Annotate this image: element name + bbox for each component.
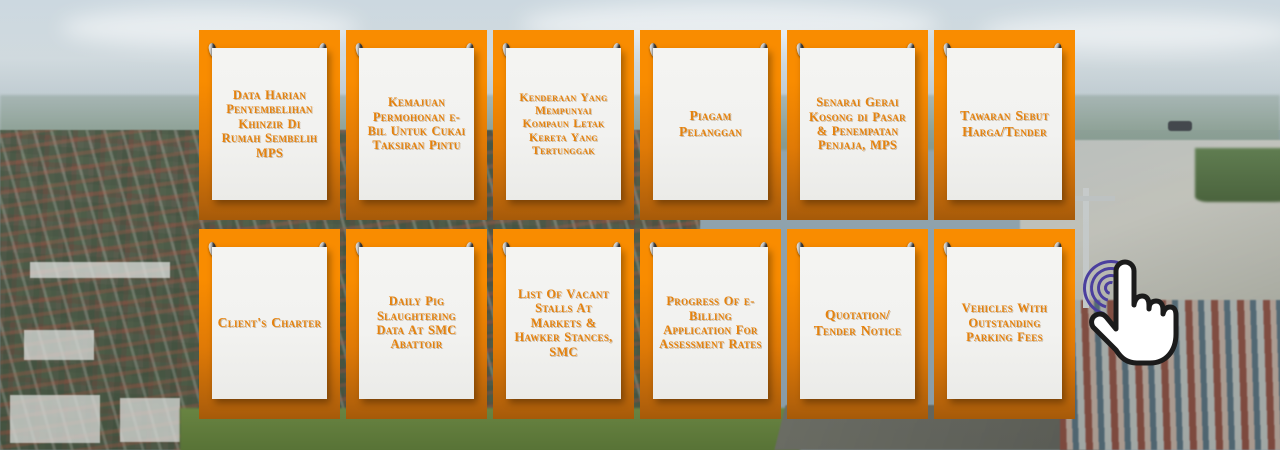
quick-link-card-clients-charter[interactable]: Client's Charter xyxy=(199,229,340,419)
quick-link-card-data-harian-penyembelihan-khinzir[interactable]: Data Harian Penyembelihan Khinzir Di Rum… xyxy=(199,30,340,220)
card-title: Progress Of e-Billing Application For As… xyxy=(658,294,763,352)
screen: Data Harian Penyembelihan Khinzir Di Rum… xyxy=(0,0,1280,450)
quick-links-grid: Data Harian Penyembelihan Khinzir Di Rum… xyxy=(199,30,1081,419)
card-title: Kemajuan Permohonan e-Bil Untuk Cukai Ta… xyxy=(364,95,469,153)
card-title: Piagam Pelanggan xyxy=(658,108,763,140)
quick-links-row-1: Data Harian Penyembelihan Khinzir Di Rum… xyxy=(199,30,1081,220)
card-title: List Of Vacant Stalls At Markets & Hawke… xyxy=(511,287,616,359)
card-title: Client's Charter xyxy=(218,315,322,331)
quick-link-card-quotation-tender-notice[interactable]: Quotation/ Tender Notice xyxy=(787,229,928,419)
card-paper: Data Harian Penyembelihan Khinzir Di Rum… xyxy=(212,48,327,200)
card-title: Daily Pig Slaughtering Data At SMC Abatt… xyxy=(364,294,469,352)
quick-link-card-vehicles-with-outstanding-parking-fees[interactable]: Vehicles With Outstanding Parking Fees xyxy=(934,229,1075,419)
card-paper: Tawaran Sebut Harga/Tender xyxy=(947,48,1062,200)
quick-link-card-list-of-vacant-stalls[interactable]: List Of Vacant Stalls At Markets & Hawke… xyxy=(493,229,634,419)
card-title: Senarai Gerai Kosong di Pasar & Penempat… xyxy=(805,95,910,153)
card-title: Data Harian Penyembelihan Khinzir Di Rum… xyxy=(217,88,322,160)
card-paper: Kemajuan Permohonan e-Bil Untuk Cukai Ta… xyxy=(359,48,474,200)
card-paper: Piagam Pelanggan xyxy=(653,48,768,200)
card-paper: Senarai Gerai Kosong di Pasar & Penempat… xyxy=(800,48,915,200)
quick-link-card-progress-of-e-billing-application[interactable]: Progress Of e-Billing Application For As… xyxy=(640,229,781,419)
card-paper: Daily Pig Slaughtering Data At SMC Abatt… xyxy=(359,247,474,399)
card-title: Tawaran Sebut Harga/Tender xyxy=(952,108,1057,140)
quick-link-card-tawaran-sebut-harga-tender[interactable]: Tawaran Sebut Harga/Tender xyxy=(934,30,1075,220)
card-title: Kenderaan Yang Mempunyai Kompaun Letak K… xyxy=(511,91,616,157)
quick-link-card-daily-pig-slaughtering-data[interactable]: Daily Pig Slaughtering Data At SMC Abatt… xyxy=(346,229,487,419)
card-title: Vehicles With Outstanding Parking Fees xyxy=(952,301,1057,344)
card-title: Quotation/ Tender Notice xyxy=(805,307,910,339)
card-paper: Kenderaan Yang Mempunyai Kompaun Letak K… xyxy=(506,48,621,200)
card-paper: Quotation/ Tender Notice xyxy=(800,247,915,399)
card-paper: List Of Vacant Stalls At Markets & Hawke… xyxy=(506,247,621,399)
quick-link-card-kenderaan-kompaun-letak-kereta[interactable]: Kenderaan Yang Mempunyai Kompaun Letak K… xyxy=(493,30,634,220)
quick-link-card-senarai-gerai-kosong[interactable]: Senarai Gerai Kosong di Pasar & Penempat… xyxy=(787,30,928,220)
quick-links-row-2: Client's Charter Daily Pig Slaughtering … xyxy=(199,229,1081,419)
quick-link-card-piagam-pelanggan[interactable]: Piagam Pelanggan xyxy=(640,30,781,220)
quick-link-card-kemajuan-permohonan-e-bil[interactable]: Kemajuan Permohonan e-Bil Untuk Cukai Ta… xyxy=(346,30,487,220)
card-paper: Client's Charter xyxy=(212,247,327,399)
card-paper: Vehicles With Outstanding Parking Fees xyxy=(947,247,1062,399)
card-paper: Progress Of e-Billing Application For As… xyxy=(653,247,768,399)
